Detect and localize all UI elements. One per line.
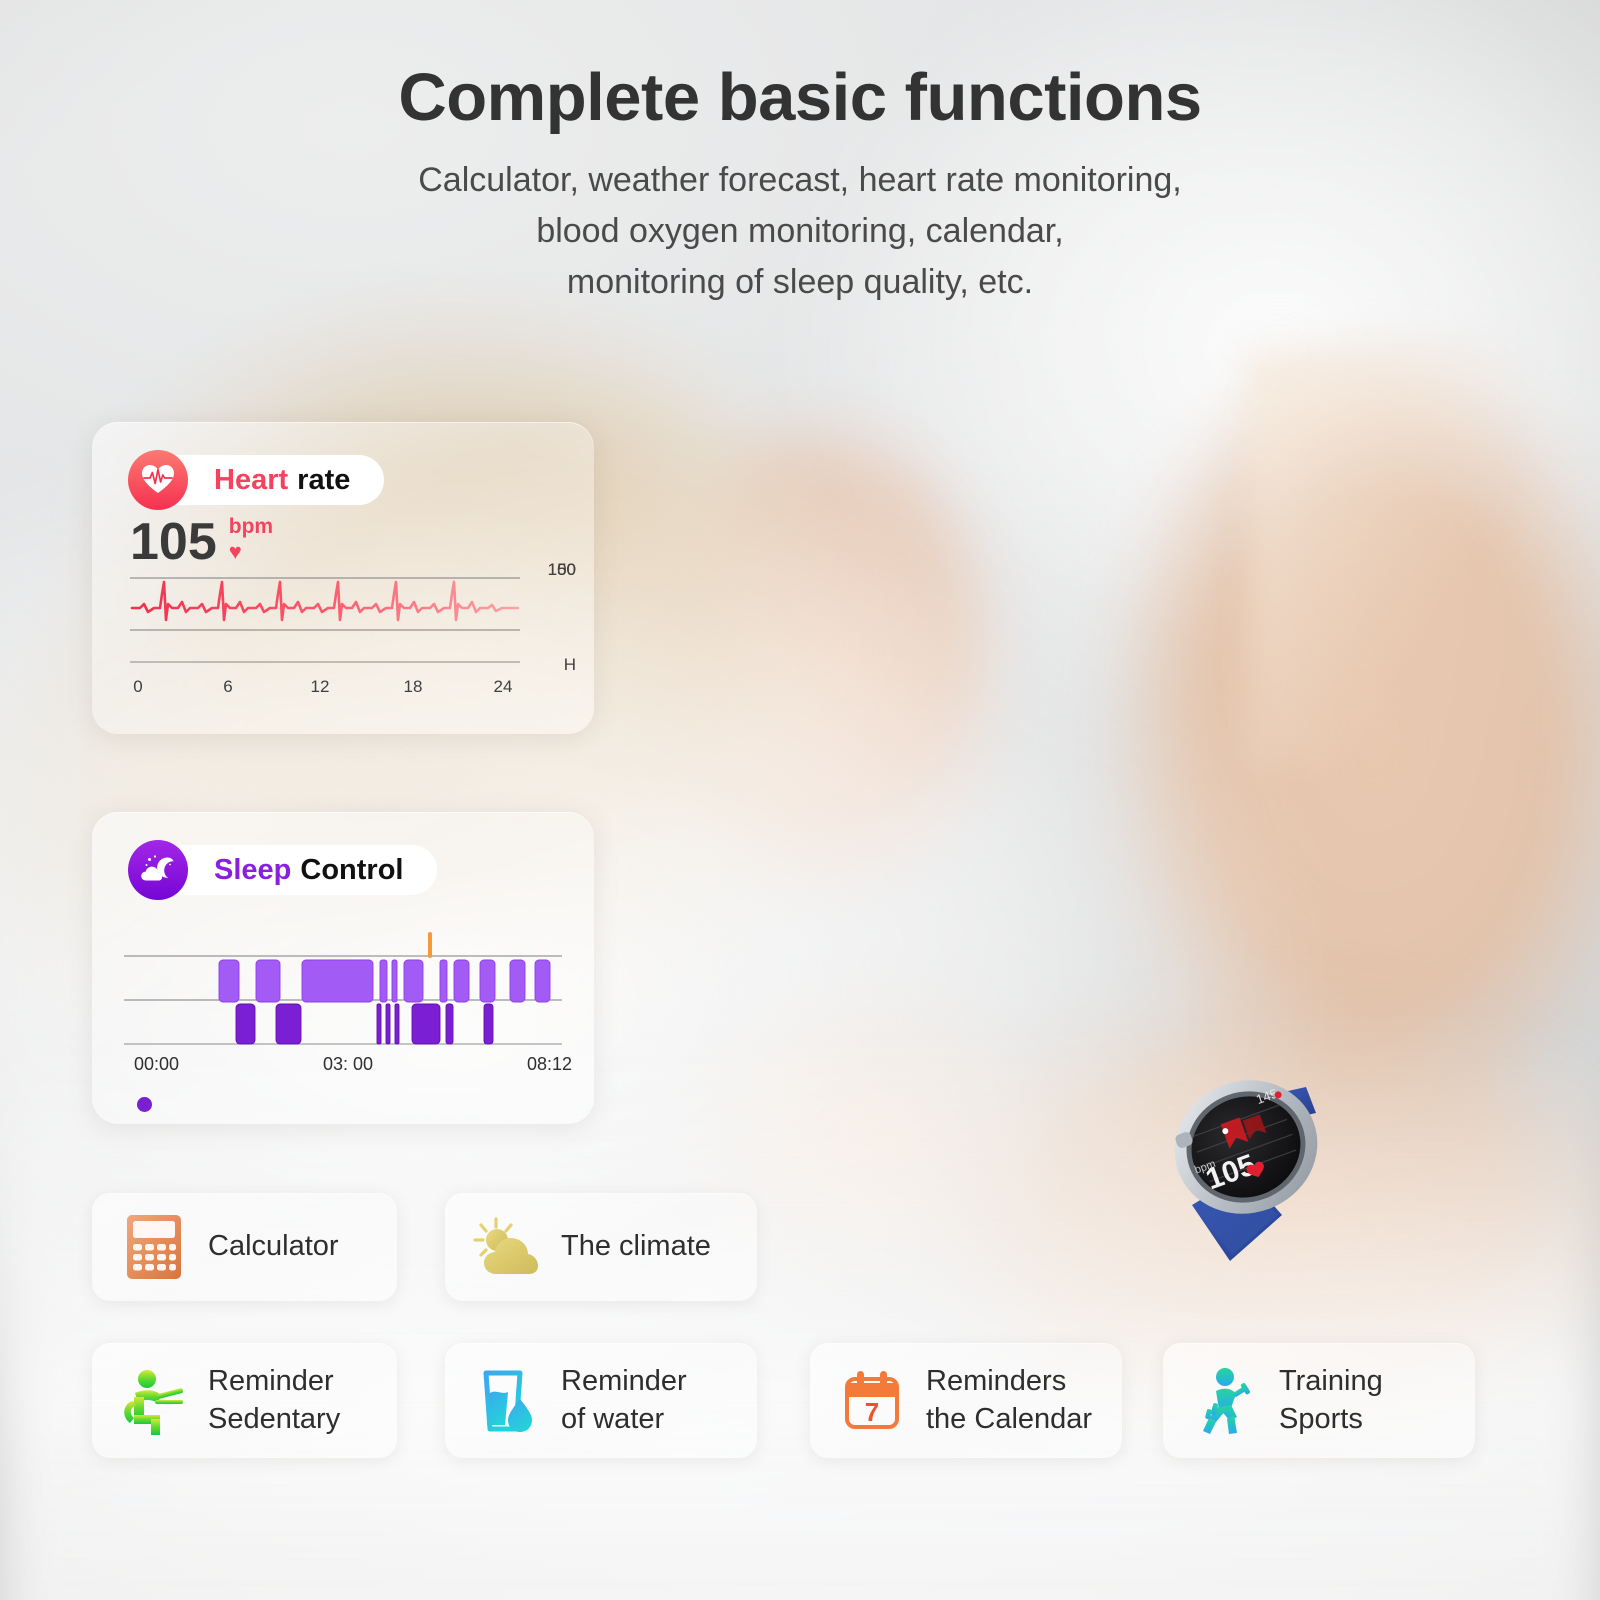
product-feature-page: Complete basic functions Calculator, wea… bbox=[0, 0, 1600, 1600]
sleep-tick-start: 00:00 bbox=[134, 1054, 179, 1075]
sleep-x-axis: 00:00 03: 00 08:12 bbox=[124, 1054, 572, 1078]
heart-rate-value-row: 105 bpm ♥ bbox=[130, 516, 273, 568]
sleep-control-title-pill: Sleep Control bbox=[154, 845, 437, 895]
feature-label-calculator: Calculator bbox=[208, 1228, 339, 1265]
x-axis-unit-label: H bbox=[564, 655, 576, 675]
page-header: Complete basic functions Calculator, wea… bbox=[0, 62, 1600, 308]
x-tick-24: 24 bbox=[494, 677, 513, 697]
feature-label-line2: the Calendar bbox=[926, 1401, 1092, 1438]
feature-card-water[interactable]: Reminder of water bbox=[445, 1343, 757, 1458]
feature-card-climate[interactable]: The climate bbox=[445, 1193, 757, 1301]
feature-card-calendar[interactable]: 7 Reminders the Calendar bbox=[810, 1343, 1122, 1458]
sitting-person-icon bbox=[118, 1365, 190, 1437]
page-title: Complete basic functions bbox=[0, 62, 1600, 133]
ecg-chart bbox=[130, 574, 520, 664]
sleep-title-word2: Control bbox=[300, 854, 403, 887]
feature-label-line1: The climate bbox=[561, 1230, 711, 1262]
feature-label-line1: Reminder bbox=[561, 1365, 687, 1397]
calendar-icon: 7 bbox=[836, 1365, 908, 1437]
feature-label-line1: Training bbox=[1279, 1365, 1383, 1397]
water-glass-icon bbox=[471, 1365, 543, 1437]
sleep-stage-chart bbox=[124, 930, 562, 1048]
feature-label-line2: Sedentary bbox=[208, 1401, 340, 1438]
moon-cloud-icon bbox=[128, 840, 188, 900]
sleep-tick-middle: 03: 00 bbox=[323, 1054, 373, 1075]
feature-label-line1: Reminder bbox=[208, 1365, 334, 1397]
smartwatch: 145 105 bpm bbox=[1120, 1055, 1370, 1285]
sleep-tick-end: 08:12 bbox=[527, 1054, 572, 1075]
feature-label-calendar: Reminders the Calendar bbox=[926, 1363, 1092, 1437]
heart-rate-title-pill: Heart rate bbox=[154, 455, 384, 505]
sleep-title-word1: Sleep bbox=[214, 854, 291, 887]
feature-label-climate: The climate bbox=[561, 1228, 711, 1265]
svg-text:7: 7 bbox=[865, 1397, 879, 1427]
running-person-icon bbox=[1189, 1365, 1261, 1437]
subtitle-line-3: monitoring of sleep quality, etc. bbox=[0, 257, 1600, 308]
ecg-x-axis: 0 6 12 18 24 H bbox=[130, 677, 576, 701]
sleep-control-card: Sleep Control bbox=[92, 812, 594, 1124]
heart-rate-unit: bpm bbox=[229, 516, 273, 537]
feature-label-line2: of water bbox=[561, 1401, 687, 1438]
subtitle-line-1: Calculator, weather forecast, heart rate… bbox=[0, 155, 1600, 206]
feature-card-training[interactable]: Training Sports bbox=[1163, 1343, 1475, 1458]
feature-label-sedentary: Reminder Sedentary bbox=[208, 1363, 340, 1437]
feature-card-sedentary[interactable]: Reminder Sedentary bbox=[92, 1343, 397, 1458]
feature-label-line2: Sports bbox=[1279, 1401, 1383, 1438]
heart-glyph-icon: ♥ bbox=[229, 541, 242, 563]
sleep-legend-dot bbox=[137, 1097, 152, 1112]
feature-card-calculator[interactable]: Calculator bbox=[92, 1193, 397, 1301]
x-tick-18: 18 bbox=[404, 677, 423, 697]
subtitle-line-2: blood oxygen monitoring, calendar, bbox=[0, 206, 1600, 257]
x-tick-0: 0 bbox=[133, 677, 142, 697]
y-tick-50: 50 bbox=[557, 560, 576, 580]
calculator-icon bbox=[118, 1211, 190, 1283]
x-tick-12: 12 bbox=[311, 677, 330, 697]
feature-label-training: Training Sports bbox=[1279, 1363, 1383, 1437]
heart-rate-header: Heart rate bbox=[128, 450, 384, 510]
heart-rate-title-word2: rate bbox=[297, 464, 350, 497]
sun-cloud-icon bbox=[471, 1211, 543, 1283]
heart-rate-card: Heart rate 105 bpm ♥ bbox=[92, 422, 594, 734]
page-subtitle: Calculator, weather forecast, heart rate… bbox=[0, 155, 1600, 308]
heart-rate-value: 105 bbox=[130, 516, 217, 568]
heart-pulse-icon bbox=[128, 450, 188, 510]
sleep-control-header: Sleep Control bbox=[128, 840, 437, 900]
x-tick-6: 6 bbox=[223, 677, 232, 697]
feature-label-water: Reminder of water bbox=[561, 1363, 687, 1437]
feature-label-line1: Reminders bbox=[926, 1365, 1066, 1397]
heart-rate-title-word1: Heart bbox=[214, 464, 288, 497]
feature-label-line1: Calculator bbox=[208, 1230, 339, 1262]
